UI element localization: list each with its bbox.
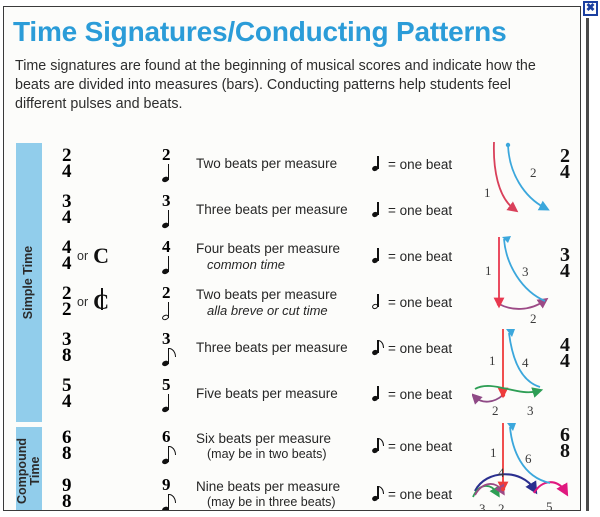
beat-number-5: 5 — [546, 499, 553, 511]
time-signature-5-4: 5 4 — [62, 378, 71, 409]
description-cell: Two beats per measure alla breve or cut … — [196, 279, 371, 325]
time-signature-2-2: 2 2 — [62, 286, 71, 317]
beat-number-2: 2 — [492, 403, 499, 418]
conducting-patterns-group: 1 2 2 4 — [472, 135, 581, 511]
beat-unit-cell: 3 — [156, 187, 198, 233]
close-icon[interactable]: ✖ — [583, 1, 598, 16]
beat-value-cell: = one beat — [372, 187, 472, 233]
beat-number-3: 3 — [479, 501, 486, 511]
or-text: or — [77, 249, 88, 263]
quarter-note-icon — [372, 202, 385, 218]
scrollbar-edge[interactable] — [586, 18, 589, 511]
beat-number-2: 2 — [498, 501, 505, 511]
time-signature-2-4: 2 4 — [62, 148, 71, 179]
time-signature-3-4: 3 4 — [62, 194, 71, 225]
time-signature-cell: 3 8 — [49, 325, 164, 371]
quarter-note-icon — [162, 394, 177, 413]
conducting-pattern-3-4: 1 2 3 3 4 — [472, 231, 581, 327]
beat-unit-cell: 2 — [156, 141, 198, 187]
beat-number-1: 1 — [489, 353, 496, 368]
beat-unit-cell: 6 — [156, 423, 198, 469]
pattern-signature-3-4: 3 4 — [560, 247, 570, 280]
time-signature-9-8: 9 8 — [62, 478, 71, 509]
conducting-pattern-4-4: 1 2 3 4 4 4 — [472, 325, 581, 421]
beat-number-4: 4 — [498, 465, 505, 480]
pattern-signature-4-4: 4 4 — [560, 337, 570, 370]
beat-value-cell: = one beat — [372, 325, 472, 371]
eighth-note-icon — [162, 446, 177, 465]
time-signature-4-4: 4 4 — [62, 240, 71, 271]
quarter-note-icon — [372, 248, 385, 264]
beat-number-2: 2 — [530, 311, 537, 326]
eighth-note-icon — [372, 340, 385, 356]
intro-paragraph: Time signatures are found at the beginni… — [4, 48, 580, 114]
page-title: Time Signatures/Conducting Patterns — [4, 7, 580, 48]
pattern-signature-6-8: 6 8 — [560, 427, 570, 460]
beat-unit-cell: 4 — [156, 233, 198, 279]
beat-number-3: 3 — [522, 264, 529, 279]
description-cell: Four beats per measure common time — [196, 233, 371, 279]
half-note-icon — [372, 294, 385, 310]
time-signature-cell: 3 4 — [49, 187, 164, 233]
cut-time-icon: C — [93, 291, 109, 313]
eighth-note-icon — [372, 486, 385, 502]
time-signature-cell: 9 8 — [49, 471, 164, 511]
quarter-note-icon — [162, 210, 177, 229]
beat-value-cell: = one beat — [372, 471, 472, 511]
time-signature-6-8: 6 8 — [62, 430, 71, 461]
quarter-note-icon — [162, 256, 177, 275]
time-signature-3-8: 3 8 — [62, 332, 71, 363]
beat-number-3: 3 — [527, 403, 534, 418]
beat-value-cell: = one beat — [372, 141, 472, 187]
eighth-note-icon — [162, 494, 177, 512]
slide-panel: Time Signatures/Conducting Patterns Time… — [3, 6, 581, 511]
description-cell: Six beats per measure (may be in two bea… — [196, 423, 371, 469]
beat-number-1: 1 — [485, 263, 492, 278]
quarter-note-icon — [372, 386, 385, 402]
beat-number-1: 1 — [490, 445, 497, 460]
conducting-pattern-6-8: 1 2 3 4 5 6 6 8 — [472, 421, 581, 511]
beat-unit-cell: 3 — [156, 325, 198, 371]
pattern-signature-2-4: 2 4 — [560, 148, 570, 181]
time-signature-cell: 2 2 or C — [49, 279, 164, 325]
beat-unit-cell: 9 — [156, 471, 198, 511]
beat-value-cell: = one beat — [372, 279, 472, 325]
beat-value-cell: = one beat — [372, 233, 472, 279]
time-signature-cell: 2 4 — [49, 141, 164, 187]
description-cell: Three beats per measure — [196, 187, 371, 233]
beat-unit-cell: 2 — [156, 279, 198, 325]
quarter-note-icon — [162, 164, 177, 183]
time-signature-cell: 4 4 or C — [49, 233, 164, 279]
common-time-icon: C — [93, 245, 109, 267]
description-cell: Two beats per measure — [196, 141, 371, 187]
half-note-icon — [162, 302, 177, 321]
description-cell: Nine beats per measure (may be in three … — [196, 471, 371, 511]
beat-number-1: 1 — [484, 185, 491, 200]
description-cell: Three beats per measure — [196, 325, 371, 371]
beat-number-2: 2 — [530, 165, 537, 180]
or-text: or — [77, 295, 88, 309]
quarter-note-icon — [372, 156, 385, 172]
beat-value-cell: = one beat — [372, 371, 472, 417]
beat-value-cell: = one beat — [372, 423, 472, 469]
beat-number-4: 4 — [522, 355, 529, 370]
eighth-note-icon — [372, 438, 385, 454]
conducting-pattern-2-4: 1 2 2 4 — [472, 135, 581, 231]
time-signature-cell: 5 4 — [49, 371, 164, 417]
description-cell: Five beats per measure — [196, 371, 371, 417]
beat-unit-cell: 5 — [156, 371, 198, 417]
time-signature-cell: 6 8 — [49, 423, 164, 469]
eighth-note-icon — [162, 348, 177, 367]
beat-number-6: 6 — [525, 451, 532, 466]
